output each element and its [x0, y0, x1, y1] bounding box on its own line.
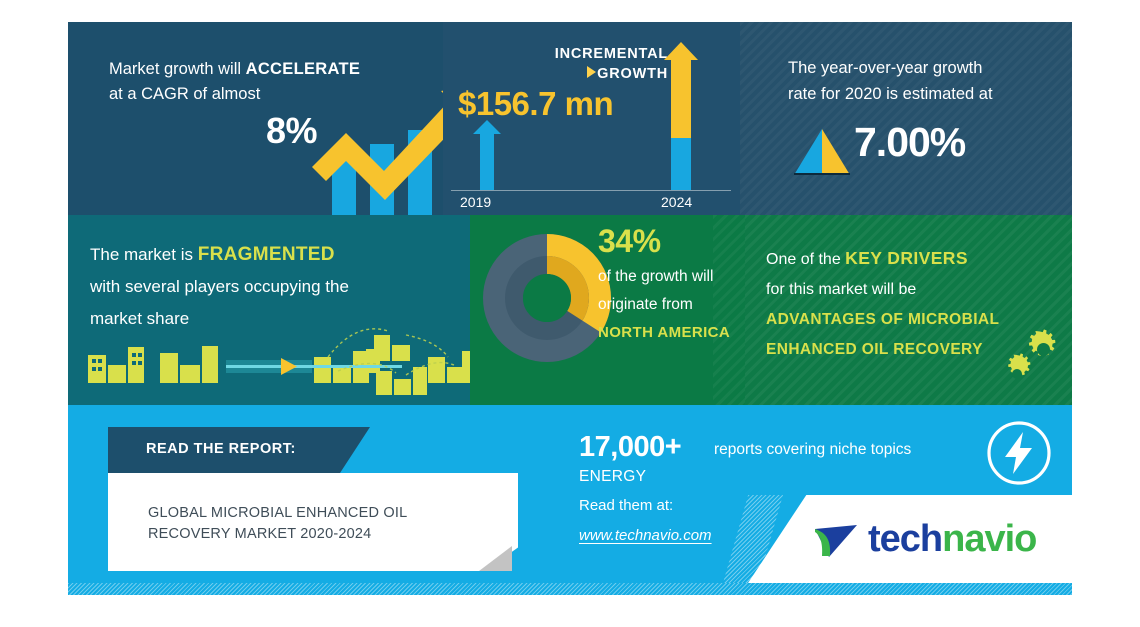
panel-accelerate: Market growth will ACCELERATE at a CAGR …: [68, 22, 443, 215]
panel-north-america: 34% of the growth will originate from NO…: [470, 215, 745, 405]
panel-fragmented: The market is FRAGMENTED with several pl…: [68, 215, 470, 405]
fragmented-text: The market is FRAGMENTED with several pl…: [90, 239, 460, 335]
key-drivers-text-bold: KEY DRIVERS: [845, 248, 968, 268]
reports-count-description: reports covering niche topics: [714, 441, 911, 459]
technavio-wordmark: technavio: [868, 518, 1036, 561]
fragmented-text-bold: FRAGMENTED: [198, 244, 335, 265]
key-drivers-text-line2: for this market will be: [766, 281, 916, 298]
yoy-text-line2: rate for 2020 is estimated at: [788, 85, 993, 103]
accelerate-text-line2: at a CAGR of almost: [109, 85, 260, 103]
panel-footer: READ THE REPORT: GLOBAL MICROBIAL ENHANC…: [68, 405, 1072, 595]
report-title-line2: RECOVERY MARKET 2020-2024: [148, 526, 371, 542]
reports-count: 17,000+: [579, 431, 681, 464]
technavio-url-link[interactable]: www.technavio.com: [579, 527, 712, 544]
north-america-text: of the growth will originate from: [598, 263, 748, 319]
yoy-text-line1: The year-over-year growth: [788, 59, 982, 77]
yoy-text: The year-over-year growth rate for 2020 …: [788, 55, 1053, 107]
yoy-value: 7.00%: [854, 119, 965, 166]
panel-key-drivers: One of the KEY DRIVERS for this market w…: [745, 215, 1072, 405]
sector-label: ENERGY: [579, 468, 646, 486]
incremental-bars-icon: [443, 22, 740, 215]
north-america-text-line2: originate from: [598, 296, 693, 313]
logo-text-tech: tech: [868, 518, 942, 560]
accelerate-text-pre: Market growth will: [109, 60, 246, 78]
logo-text-navio: navio: [942, 518, 1036, 560]
key-drivers-driver-line1: ADVANTAGES OF MICROBIAL: [766, 311, 999, 328]
lightning-bolt-icon: [985, 419, 1053, 492]
panel-yoy-growth: The year-over-year growth rate for 2020 …: [740, 22, 1072, 215]
north-america-region-label: NORTH AMERICA: [598, 324, 730, 341]
read-the-report-label: READ THE REPORT:: [146, 441, 296, 457]
read-them-at-label: Read them at:: [579, 497, 673, 514]
panel-incremental-growth: INCREMENTAL GROWTH $156.7 mn 2019 2024: [443, 22, 740, 215]
row-insights: The market is FRAGMENTED with several pl…: [68, 215, 1072, 405]
report-card[interactable]: GLOBAL MICROBIAL ENHANCED OIL RECOVERY M…: [108, 473, 518, 571]
row-highlights: Market growth will ACCELERATE at a CAGR …: [68, 22, 1072, 215]
incremental-axis-label-2024: 2024: [661, 194, 692, 210]
fragmented-text-line2: with several players occupying the: [90, 277, 349, 296]
key-drivers-text-pre: One of the: [766, 251, 845, 268]
report-title-line1: GLOBAL MICROBIAL ENHANCED OIL: [148, 505, 407, 521]
footer-stripe-band: [68, 583, 1072, 595]
donut-chart-icon: [482, 233, 612, 368]
technavio-arrow-logo-icon: [813, 523, 861, 568]
gears-icon: [998, 327, 1064, 398]
fragmented-text-pre: The market is: [90, 245, 198, 264]
north-america-percent: 34%: [598, 223, 661, 260]
city-buildings-spread-icon: [76, 327, 476, 410]
read-the-report-ribbon: READ THE REPORT:: [108, 427, 340, 473]
incremental-axis-label-2019: 2019: [460, 194, 491, 210]
key-drivers-driver-line2: ENHANCED OIL RECOVERY: [766, 341, 983, 358]
incremental-axis-line: [451, 190, 731, 191]
triangle-up-icon: [794, 129, 850, 180]
infographic-root: Market growth will ACCELERATE at a CAGR …: [68, 22, 1072, 595]
fragmented-text-line3: market share: [90, 309, 189, 328]
north-america-text-line1: of the growth will: [598, 268, 713, 285]
report-title: GLOBAL MICROBIAL ENHANCED OIL RECOVERY M…: [148, 503, 478, 545]
